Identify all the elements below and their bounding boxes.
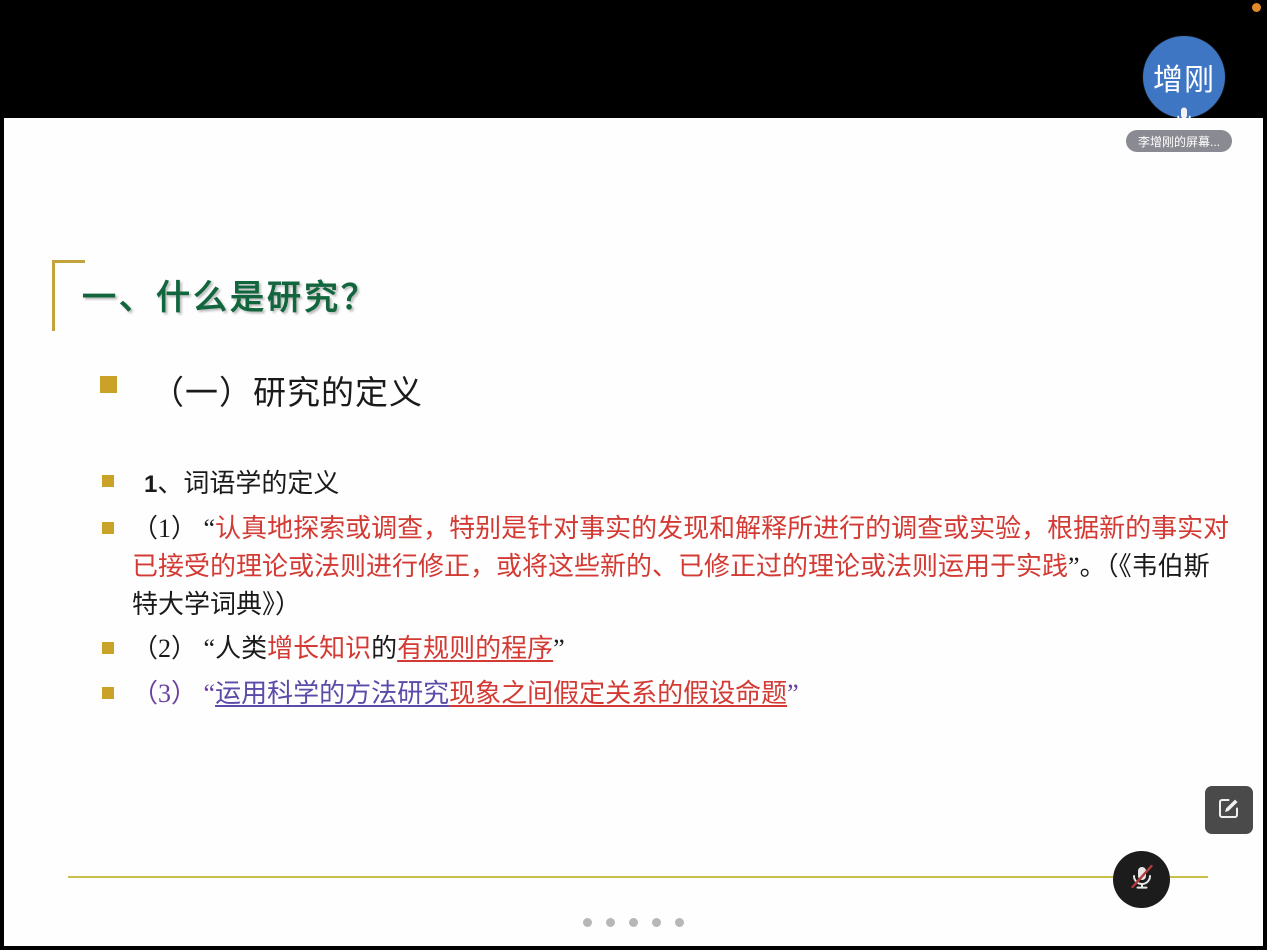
quote-segment-1: 认真地探索或调查，特别是针对事实的发现和解释所进行的调查或实验，根据新的事实对已…: [132, 514, 1229, 581]
shared-slide: 一、什么是研究？ （一）研究的定义 1、词语学的定义 （1） “认真地探索或调查…: [4, 118, 1263, 946]
quote-segment-2: 增长知识: [267, 634, 371, 663]
bullet-square-icon: [102, 475, 114, 487]
list-item: （3） “运用科学的方法研究现象之间假定关系的假设命题”: [102, 675, 1232, 713]
quote-segment-1: 运用科学的方法研究: [215, 679, 449, 708]
subheading-label: 、词语学的定义: [157, 469, 339, 498]
quote-open-mark: “: [204, 679, 216, 708]
screen-share-badge[interactable]: 李增刚的屏幕...: [1126, 130, 1232, 152]
annotate-button[interactable]: [1205, 786, 1253, 834]
meeting-top-bar: 增刚: [0, 0, 1267, 118]
page-dot[interactable]: [675, 918, 684, 927]
page-dot[interactable]: [606, 918, 615, 927]
list-item: （2） “人类增长知识的有规则的程序”: [102, 630, 1232, 668]
mute-toggle-button[interactable]: [1113, 851, 1170, 908]
quote-block-1: （1） “认真地探索或调查，特别是针对事实的发现和解释所进行的调查或实验，根据新…: [132, 510, 1232, 624]
bullet-square-icon: [102, 642, 114, 654]
bullet-square-icon: [102, 687, 114, 699]
subheading-text: 1、词语学的定义: [144, 463, 339, 500]
page-dot[interactable]: [583, 918, 592, 927]
quote-segment-4: 有规则的程序: [397, 634, 553, 663]
list-item: （1） “认真地探索或调查，特别是针对事实的发现和解释所进行的调查或实验，根据新…: [102, 510, 1232, 624]
bullet-square-icon: [100, 376, 117, 393]
microphone-muted-icon: [1127, 862, 1157, 897]
page-indicator[interactable]: [4, 918, 1263, 927]
recording-indicator-dot: [1252, 3, 1261, 12]
title-bracket-decoration: [52, 260, 85, 331]
item-label: （2）: [132, 634, 204, 663]
participant-avatar-container[interactable]: 增刚: [1143, 36, 1225, 118]
annotate-pencil-icon: [1216, 795, 1242, 826]
page-dot[interactable]: [652, 918, 661, 927]
page-title: 一、什么是研究？: [82, 270, 378, 319]
section-heading: （一）研究的定义: [151, 366, 423, 414]
screen-share-viewer: 增刚 李增刚的屏幕... 一、什么是研究？ （一）研究的定义 1、词语: [0, 0, 1267, 950]
subheading-row: 1、词语学的定义: [102, 463, 339, 500]
quote-close-mark: ”: [1068, 552, 1080, 581]
item-label: （1）: [132, 514, 204, 543]
quote-segment-1: 人类: [215, 634, 267, 663]
quote-segment-3: 的: [371, 634, 397, 663]
quote-open-mark: “: [204, 634, 216, 663]
item-label: （3）: [132, 679, 204, 708]
quote-block-2: （2） “人类增长知识的有规则的程序”: [132, 630, 1232, 668]
heading-row: （一）研究的定义: [100, 366, 423, 414]
subheading-number: 1: [144, 471, 157, 498]
quote-block-3: （3） “运用科学的方法研究现象之间假定关系的假设命题”: [132, 675, 1232, 713]
bullet-square-icon: [102, 522, 114, 534]
page-dot[interactable]: [629, 918, 638, 927]
screen-share-label: 李增刚的屏幕...: [1138, 133, 1220, 150]
footer-divider: [68, 876, 1208, 878]
quote-segment-2: 现象之间假定关系的假设命题: [449, 679, 787, 708]
quote-open-mark: “: [204, 514, 216, 543]
quote-close-mark: ”: [787, 679, 799, 708]
quote-close-mark: ”: [553, 634, 565, 663]
